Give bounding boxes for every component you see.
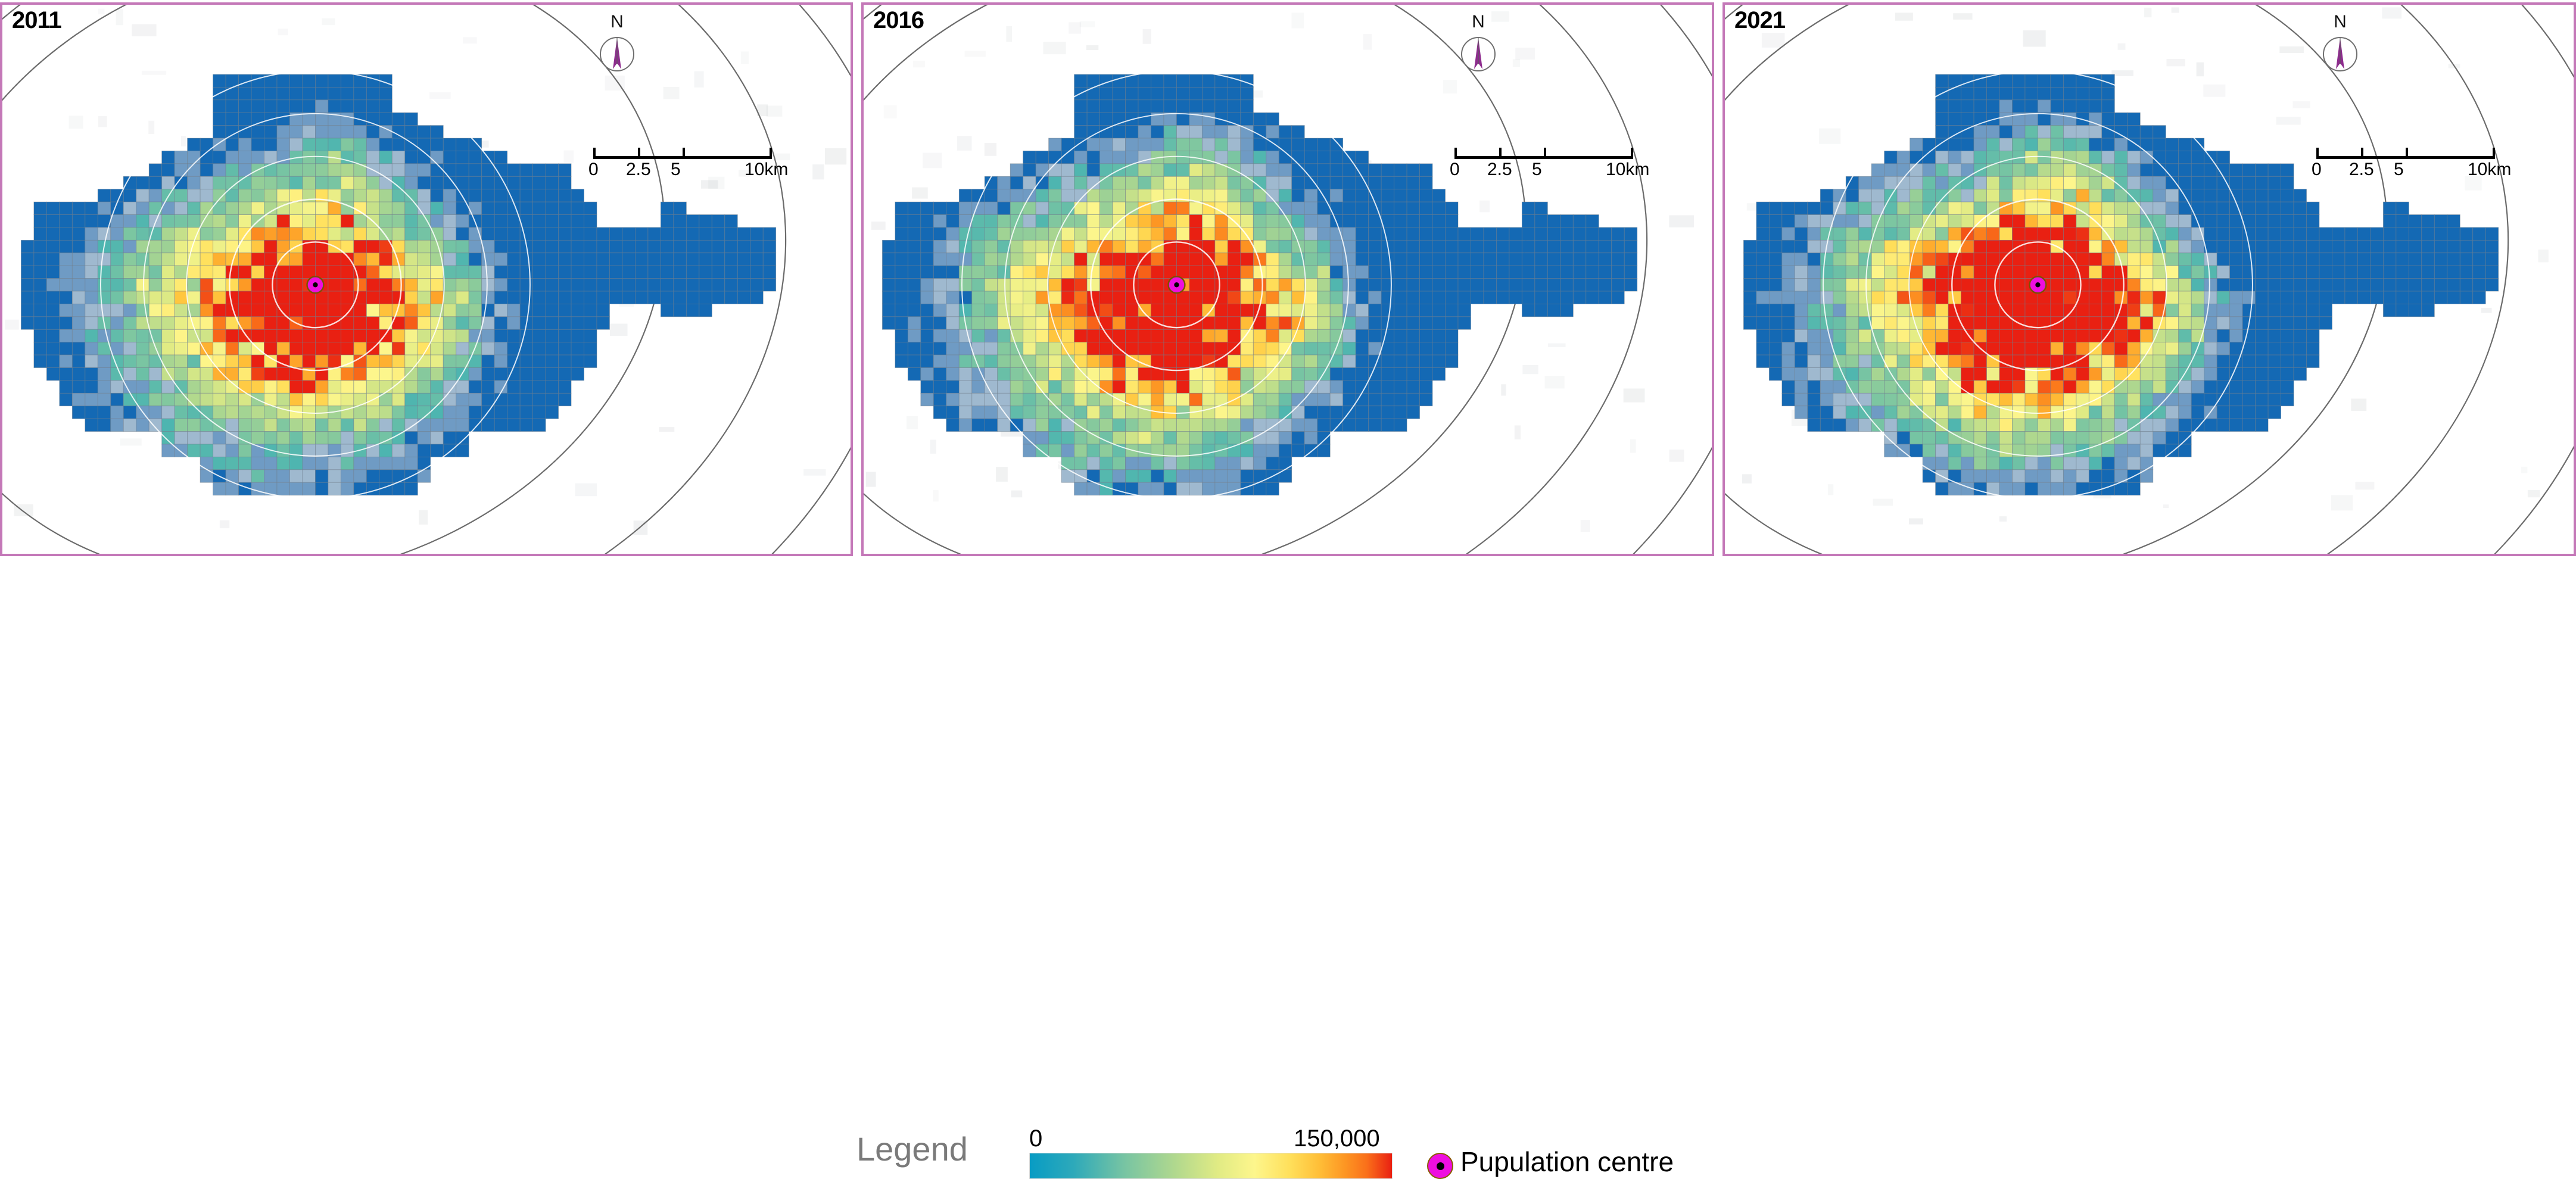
grid-cell: [1948, 355, 1961, 367]
grid-cell: [571, 279, 584, 291]
grid-cell: [2102, 138, 2114, 151]
grid-cell: [2217, 355, 2229, 367]
grid-cell: [546, 317, 558, 329]
grid-cell: [959, 291, 971, 304]
grid-cell: [908, 368, 920, 380]
grid-cell: [763, 279, 775, 291]
grid-cell: [2012, 419, 2024, 431]
grid-cell: [1074, 291, 1087, 304]
grid-cell: [315, 74, 328, 87]
grid-cell: [2473, 253, 2485, 266]
grid-cell: [123, 329, 136, 342]
grid-cell: [2383, 227, 2396, 240]
grid-cell: [2038, 113, 2050, 125]
grid-cell: [1999, 227, 2012, 240]
grid-cell: [1974, 151, 1986, 163]
grid-cell: [1923, 164, 1935, 176]
grid-cell: [1407, 342, 1419, 355]
grid-cell: [1126, 151, 1138, 163]
grid-cell: [661, 291, 673, 304]
grid-cell: [1782, 279, 1795, 291]
grid-cell: [737, 253, 750, 266]
grid-cell: [2434, 215, 2447, 227]
grid-cell: [1407, 227, 1419, 240]
grid-cell: [2114, 355, 2127, 367]
grid-cell: [2114, 444, 2127, 457]
grid-cell: [1189, 87, 1202, 99]
grid-cell: [1496, 253, 1509, 266]
grid-cell: [597, 227, 609, 240]
grid-cell: [1509, 227, 1522, 240]
grid-cell: [1381, 368, 1394, 380]
grid-cell: [1936, 393, 1948, 406]
grid-cell: [1061, 432, 1074, 444]
color-ramp: [1029, 1153, 1393, 1179]
grid-cell: [1138, 176, 1151, 189]
grid-cell: [1061, 279, 1074, 291]
grid-cell: [239, 176, 251, 189]
grid-cell: [431, 126, 443, 138]
grid-cell: [494, 368, 507, 380]
grid-cell: [2153, 164, 2166, 176]
grid-cell: [2038, 329, 2050, 342]
grid-cell: [226, 355, 238, 367]
grid-cell: [405, 482, 418, 495]
scale-bar-tick: [1544, 148, 1546, 156]
grid-cell: [546, 329, 558, 342]
grid-cell: [1228, 240, 1240, 252]
grid-cell: [188, 329, 200, 342]
grid-cell: [2166, 279, 2178, 291]
grid-cell: [2473, 291, 2485, 304]
grid-cell: [46, 342, 59, 355]
grid-cell: [1859, 342, 1871, 355]
grid-cell: [469, 317, 481, 329]
grid-cell: [1087, 457, 1099, 469]
grid-cell: [1138, 189, 1151, 202]
grid-cell: [2076, 432, 2089, 444]
grid-cell: [2114, 126, 2127, 138]
grid-cell: [1241, 444, 1253, 457]
grid-cell: [2140, 457, 2153, 469]
grid-cell: [2256, 266, 2268, 278]
grid-cell: [482, 304, 494, 316]
grid-cell: [1061, 253, 1074, 266]
grid-cell: [1446, 266, 1458, 278]
grid-cell: [1176, 253, 1189, 266]
grid-cell: [188, 419, 200, 431]
grid-cell: [277, 291, 289, 304]
grid-cell: [546, 279, 558, 291]
grid-cell: [85, 215, 98, 227]
grid-cell: [494, 317, 507, 329]
grid-cell: [277, 482, 289, 495]
grid-cell: [1859, 202, 1871, 214]
grid-cell: [2012, 329, 2024, 342]
grid-cell: [2485, 266, 2498, 278]
grid-cell: [1936, 291, 1948, 304]
scale-bar-line: [2316, 156, 2495, 159]
grid-cell: [2179, 406, 2191, 419]
grid-cell: [597, 304, 609, 316]
grid-cell: [2281, 355, 2294, 367]
grid-cell: [431, 164, 443, 176]
grid-cell: [1049, 393, 1061, 406]
grid-cell: [946, 279, 959, 291]
grid-cell: [1061, 291, 1074, 304]
grid-cell: [895, 227, 908, 240]
grid-cell: [895, 266, 908, 278]
grid-cell: [1049, 419, 1061, 431]
grid-cell: [972, 419, 985, 431]
grid-cell: [1987, 126, 1999, 138]
grid-cell: [341, 126, 353, 138]
grid-cell: [1176, 74, 1189, 87]
grid-cell: [1381, 406, 1394, 419]
grid-cell: [2012, 393, 2024, 406]
grid-cell: [2025, 342, 2038, 355]
grid-cell: [908, 304, 920, 316]
grid-cell: [1164, 215, 1176, 227]
grid-cell: [1509, 291, 1522, 304]
grid-cell: [985, 368, 997, 380]
grid-cell: [2025, 329, 2038, 342]
grid-cell: [1126, 304, 1138, 316]
grid-cell: [379, 342, 392, 355]
grid-cell: [1317, 227, 1330, 240]
grid-cell: [366, 253, 379, 266]
grid-cell: [443, 432, 456, 444]
grid-cell: [737, 279, 750, 291]
grid-cell: [366, 304, 379, 316]
grid-cell: [2025, 457, 2038, 469]
grid-cell: [2191, 240, 2204, 252]
grid-cell: [933, 202, 946, 214]
grid-cell: [1189, 342, 1202, 355]
grid-cell: [1036, 164, 1048, 176]
grid-cell: [2128, 380, 2140, 393]
grid-cell: [2281, 227, 2294, 240]
grid-cell: [507, 291, 520, 304]
grid-cell: [1113, 189, 1125, 202]
grid-cell: [2217, 291, 2229, 304]
grid-cell: [1023, 342, 1036, 355]
grid-cell: [1356, 227, 1368, 240]
grid-cell: [2242, 189, 2255, 202]
grid-cell: [1100, 291, 1113, 304]
grid-cell: [1573, 279, 1586, 291]
grid-cell: [933, 317, 946, 329]
grid-cell: [469, 189, 481, 202]
grid-cell: [303, 100, 315, 113]
grid-cell: [1961, 202, 1974, 214]
grid-cell: [1859, 368, 1871, 380]
grid-cell: [226, 138, 238, 151]
grid-cell: [136, 393, 149, 406]
grid-cell: [1279, 202, 1291, 214]
grid-cell: [2460, 240, 2472, 252]
grid-cell: [1074, 126, 1087, 138]
grid-cell: [213, 126, 226, 138]
scale-bar-label: 5: [1532, 161, 1542, 179]
population-centre-marker-icon[interactable]: [307, 276, 324, 293]
grid-cell: [149, 380, 161, 393]
grid-cell: [1304, 189, 1317, 202]
grid-cell: [2204, 304, 2217, 316]
grid-cell: [392, 113, 404, 125]
grid-cell: [85, 317, 98, 329]
grid-cell: [1381, 189, 1394, 202]
grid-cell: [946, 406, 959, 419]
grid-cell: [277, 457, 289, 469]
grid-cell: [1036, 329, 1048, 342]
grid-cell: [908, 202, 920, 214]
grid-cell: [1176, 138, 1189, 151]
grid-cell: [1948, 457, 1961, 469]
grid-cell: [1407, 266, 1419, 278]
grid-cell: [1420, 291, 1432, 304]
grid-cell: [85, 342, 98, 355]
grid-cell: [507, 215, 520, 227]
grid-cell: [1113, 151, 1125, 163]
grid-cell: [520, 406, 532, 419]
grid-cell: [1151, 419, 1163, 431]
grid-cell: [443, 215, 456, 227]
grid-cell: [405, 329, 418, 342]
grid-cell: [933, 279, 946, 291]
grid-cell: [2102, 444, 2114, 457]
grid-cell: [341, 227, 353, 240]
grid-cell: [2076, 380, 2089, 393]
grid-cell: [2128, 176, 2140, 189]
grid-cell: [2294, 279, 2306, 291]
grid-cell: [921, 253, 933, 266]
grid-cell: [712, 240, 724, 252]
grid-cell: [2051, 304, 2063, 316]
grid-cell: [1279, 176, 1291, 189]
grid-cell: [264, 317, 277, 329]
grid-cell: [2063, 176, 2076, 189]
grid-cell: [959, 189, 971, 202]
grid-cell: [226, 291, 238, 304]
population-centre-marker-icon[interactable]: [2030, 276, 2047, 293]
grid-cell: [2242, 253, 2255, 266]
grid-cell: [431, 380, 443, 393]
grid-cell: [1241, 406, 1253, 419]
grid-cell: [520, 393, 532, 406]
grid-cell: [1176, 176, 1189, 189]
grid-cell: [482, 227, 494, 240]
grid-cell: [366, 380, 379, 393]
grid-cell: [559, 393, 571, 406]
grid-cell: [1961, 100, 1974, 113]
grid-cell: [546, 227, 558, 240]
grid-cell: [1586, 227, 1599, 240]
grid-cell: [1356, 151, 1368, 163]
scale-bar-line: [593, 156, 772, 159]
grid-cell: [2281, 304, 2294, 316]
grid-cell: [1228, 419, 1240, 431]
grid-cell: [2038, 444, 2050, 457]
grid-cell: [1202, 87, 1214, 99]
grid-cell: [2012, 266, 2024, 278]
grid-cell: [418, 304, 430, 316]
grid-cell: [1948, 164, 1961, 176]
grid-cell: [2268, 227, 2281, 240]
grid-cell: [1356, 380, 1368, 393]
grid-cell: [443, 291, 456, 304]
grid-cell: [1535, 253, 1547, 266]
grid-cell: [188, 176, 200, 189]
grid-cell: [1138, 215, 1151, 227]
grid-cell: [1087, 151, 1099, 163]
grid-cell: [1253, 126, 1266, 138]
grid-cell: [1420, 342, 1432, 355]
grid-cell: [1189, 329, 1202, 342]
grid-cell: [1253, 329, 1266, 342]
grid-cell: [686, 240, 699, 252]
map-panel-2021[interactable]: 2021N02.5510km: [1722, 2, 2576, 556]
grid-cell: [571, 227, 584, 240]
grid-cell: [264, 202, 277, 214]
grid-cell: [1317, 444, 1330, 457]
grid-cell: [188, 432, 200, 444]
map-panel-2011[interactable]: 2011N02.5510km: [0, 2, 853, 556]
grid-cell: [1458, 227, 1471, 240]
grid-cell: [609, 266, 622, 278]
grid-cell: [289, 227, 302, 240]
grid-cell: [1885, 176, 1897, 189]
grid-cell: [1304, 355, 1317, 367]
grid-cell: [2114, 202, 2127, 214]
grid-cell: [959, 227, 971, 240]
grid-cell: [2089, 329, 2101, 342]
grid-cell: [2191, 279, 2204, 291]
grid-cell: [354, 406, 366, 419]
grid-cell: [1987, 355, 1999, 367]
grid-cell: [1471, 266, 1483, 278]
grid-cell: [328, 457, 341, 469]
grid-cell: [366, 189, 379, 202]
grid-cell: [2114, 419, 2127, 431]
grid-cell: [2242, 279, 2255, 291]
grid-cell: [546, 342, 558, 355]
grid-cell: [2217, 240, 2229, 252]
grid-cell: [34, 253, 46, 266]
grid-cell: [341, 304, 353, 316]
grid-cell: [2128, 227, 2140, 240]
grid-cell: [1189, 432, 1202, 444]
grid-cell: [1394, 380, 1407, 393]
grid-cell: [1138, 266, 1151, 278]
grid-cell: [328, 279, 341, 291]
grid-cell: [1961, 113, 1974, 125]
grid-cell: [2051, 74, 2063, 87]
grid-cell: [2191, 393, 2204, 406]
grid-cell: [315, 227, 328, 240]
grid-cell: [136, 304, 149, 316]
grid-cell: [1356, 202, 1368, 214]
grid-cell: [1910, 368, 1923, 380]
grid-cell: [149, 253, 161, 266]
grid-cell: [1126, 317, 1138, 329]
grid-cell: [175, 215, 187, 227]
grid-cell: [1471, 227, 1483, 240]
grid-cell: [328, 266, 341, 278]
grid-cell: [2217, 317, 2229, 329]
grid-cell: [2204, 164, 2217, 176]
grid-cell: [1795, 368, 1807, 380]
grid-cell: [431, 138, 443, 151]
grid-cell: [366, 317, 379, 329]
grid-cell: [1049, 189, 1061, 202]
grid-cell: [379, 406, 392, 419]
grid-cell: [2179, 176, 2191, 189]
grid-cell: [1036, 419, 1048, 431]
grid-cell: [469, 176, 481, 189]
grid-cell: [1138, 291, 1151, 304]
grid-cell: [60, 393, 72, 406]
grid-cell: [456, 444, 469, 457]
grid-cell: [571, 368, 584, 380]
grid-cell: [507, 380, 520, 393]
grid-cell: [2025, 176, 2038, 189]
grid-cell: [1241, 457, 1253, 469]
scale-bar-tick: [2316, 148, 2319, 156]
grid-cell: [2102, 406, 2114, 419]
grid-cell: [2268, 253, 2281, 266]
grid-cell: [456, 393, 469, 406]
grid-cell: [405, 432, 418, 444]
grid-cell: [494, 240, 507, 252]
grid-cell: [2204, 266, 2217, 278]
grid-cell: [328, 164, 341, 176]
grid-cell: [1885, 164, 1897, 176]
grid-cell: [136, 329, 149, 342]
grid-cell: [303, 470, 315, 482]
grid-cell: [494, 355, 507, 367]
grid-cell: [418, 457, 430, 469]
grid-cell: [1330, 406, 1342, 419]
grid-cell: [1189, 419, 1202, 431]
grid-cell: [2063, 74, 2076, 87]
grid-cell: [1795, 215, 1807, 227]
grid-cell: [1369, 380, 1381, 393]
population-centre-marker-icon[interactable]: [1169, 276, 1185, 293]
grid-cell: [1910, 151, 1923, 163]
grid-cell: [2089, 126, 2101, 138]
grid-cell: [622, 240, 635, 252]
grid-cell: [1974, 202, 1986, 214]
grid-cell: [123, 279, 136, 291]
map-panel-2016[interactable]: 2016N02.5510km: [861, 2, 1714, 556]
grid-cell: [264, 342, 277, 355]
grid-cell: [584, 355, 597, 367]
grid-cell: [1820, 406, 1833, 419]
grid-cell: [1859, 393, 1871, 406]
grid-cell: [469, 380, 481, 393]
grid-cell: [2153, 329, 2166, 342]
grid-cell: [1061, 202, 1074, 214]
grid-cell: [149, 406, 161, 419]
population-centre-key-label: Pupulation centre: [1460, 1148, 1674, 1175]
grid-cell: [1833, 253, 1846, 266]
grid-cell: [2485, 240, 2498, 252]
grid-cell: [2268, 215, 2281, 227]
grid-cell: [2076, 227, 2089, 240]
grid-cell: [2025, 253, 2038, 266]
grid-cell: [1113, 482, 1125, 495]
